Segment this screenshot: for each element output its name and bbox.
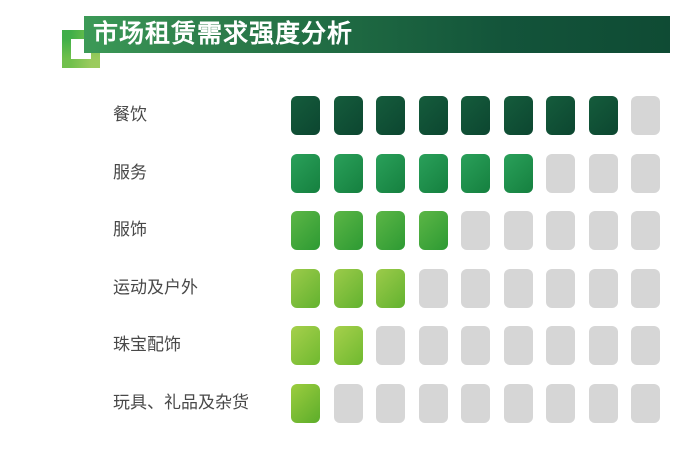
matrix-cell-empty [589, 326, 618, 365]
matrix-cell-empty [546, 326, 575, 365]
matrix-cell-filled [546, 96, 575, 135]
matrix-cell-filled [334, 269, 363, 308]
matrix-cell-empty [546, 154, 575, 193]
matrix-cell-filled [461, 154, 490, 193]
matrix-cell-filled [461, 96, 490, 135]
matrix-cell-filled [419, 154, 448, 193]
matrix-cell-filled [376, 211, 405, 250]
matrix-cell-empty [419, 326, 448, 365]
matrix-cell-filled [291, 96, 320, 135]
page-title: 市场租赁需求强度分析 [93, 16, 353, 53]
matrix-cell-empty [419, 269, 448, 308]
matrix-cell-empty [461, 326, 490, 365]
matrix-cell-empty [546, 269, 575, 308]
matrix-cell-filled [334, 154, 363, 193]
row-label: 服饰 [113, 207, 147, 252]
matrix-cell-empty [589, 211, 618, 250]
matrix-cell-empty [504, 384, 533, 423]
matrix-cell-filled [291, 269, 320, 308]
matrix-cell-filled [376, 96, 405, 135]
matrix-cell-filled [291, 326, 320, 365]
matrix-cell-empty [461, 384, 490, 423]
matrix-row: 运动及户外 [0, 265, 698, 323]
row-cells [291, 96, 660, 135]
row-label: 餐饮 [113, 92, 147, 137]
matrix-cell-empty [504, 269, 533, 308]
matrix-cell-empty [461, 269, 490, 308]
matrix-cell-empty [631, 326, 660, 365]
row-label: 服务 [113, 150, 147, 195]
matrix-cell-empty [631, 269, 660, 308]
row-cells [291, 211, 660, 250]
demand-intensity-matrix: 餐饮服务服饰运动及户外珠宝配饰玩具、礼品及杂货 [0, 92, 698, 447]
matrix-cell-filled [419, 211, 448, 250]
matrix-cell-filled [589, 96, 618, 135]
matrix-cell-empty [334, 384, 363, 423]
matrix-cell-empty [419, 384, 448, 423]
matrix-cell-filled [419, 96, 448, 135]
matrix-cell-empty [631, 96, 660, 135]
matrix-cell-empty [546, 211, 575, 250]
header: 市场租赁需求强度分析 [0, 0, 698, 86]
matrix-row: 餐饮 [0, 92, 698, 150]
matrix-cell-filled [334, 211, 363, 250]
matrix-cell-empty [589, 154, 618, 193]
matrix-cell-empty [589, 269, 618, 308]
matrix-cell-filled [376, 269, 405, 308]
row-cells [291, 384, 660, 423]
matrix-cell-empty [631, 384, 660, 423]
slide-canvas: 市场租赁需求强度分析 餐饮服务服饰运动及户外珠宝配饰玩具、礼品及杂货 [0, 0, 698, 451]
matrix-row: 服务 [0, 150, 698, 208]
matrix-cell-empty [376, 384, 405, 423]
matrix-row: 服饰 [0, 207, 698, 265]
matrix-cell-empty [631, 211, 660, 250]
matrix-cell-filled [504, 96, 533, 135]
matrix-cell-empty [589, 384, 618, 423]
matrix-cell-filled [291, 384, 320, 423]
matrix-cell-empty [376, 326, 405, 365]
matrix-cell-empty [631, 154, 660, 193]
matrix-cell-empty [546, 384, 575, 423]
matrix-cell-empty [504, 211, 533, 250]
matrix-cell-empty [504, 326, 533, 365]
matrix-cell-filled [504, 154, 533, 193]
matrix-cell-filled [334, 326, 363, 365]
matrix-cell-filled [291, 211, 320, 250]
row-label: 运动及户外 [113, 265, 198, 310]
row-cells [291, 326, 660, 365]
matrix-cell-filled [334, 96, 363, 135]
matrix-cell-filled [291, 154, 320, 193]
row-label: 玩具、礼品及杂货 [113, 380, 249, 425]
row-cells [291, 269, 660, 308]
row-label: 珠宝配饰 [113, 322, 181, 367]
matrix-row: 玩具、礼品及杂货 [0, 380, 698, 438]
row-cells [291, 154, 660, 193]
matrix-cell-empty [461, 211, 490, 250]
matrix-row: 珠宝配饰 [0, 322, 698, 380]
matrix-cell-filled [376, 154, 405, 193]
